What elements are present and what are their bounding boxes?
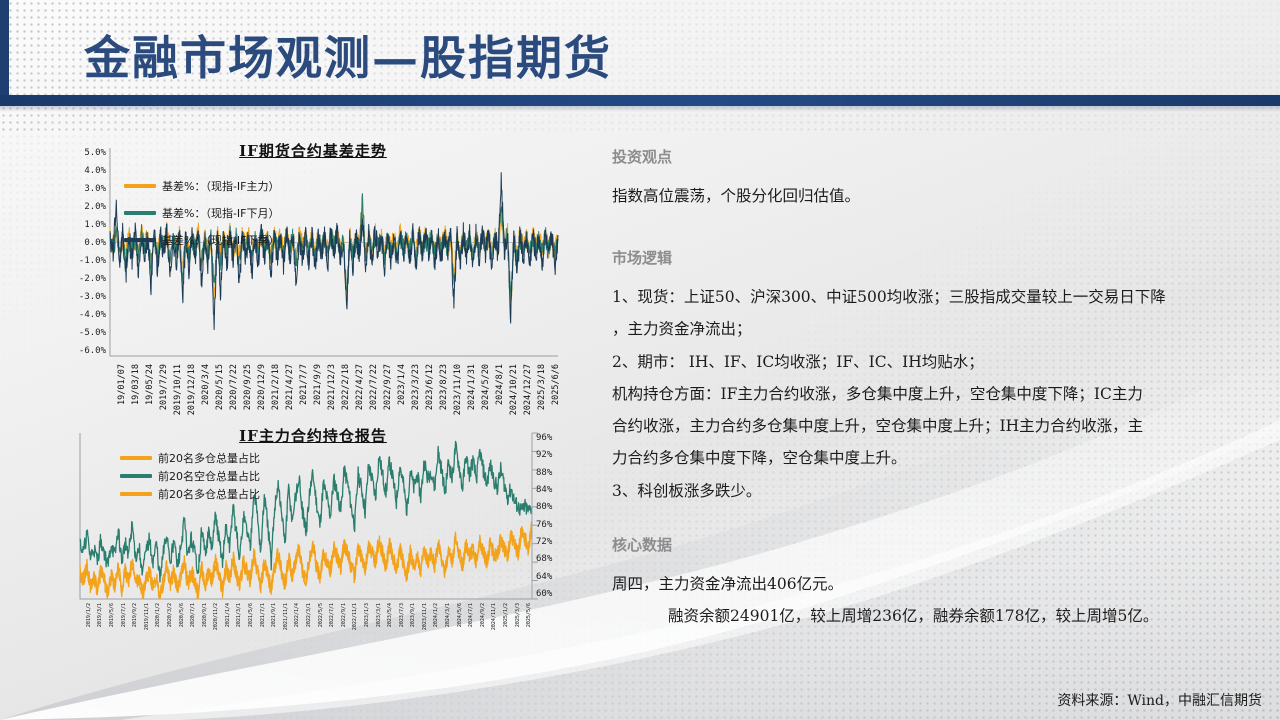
y-axis-tick-label: 3.0%: [84, 184, 106, 194]
x-axis-tick-label: 2024/10/21: [509, 364, 519, 415]
core-data-line-1: 周四，主力资金净流出406亿元。: [612, 569, 1260, 599]
x-axis-tick-label: 2019/9/2: [132, 603, 138, 627]
header-divider-bar: [0, 95, 1280, 106]
legend-item: 基差%：（现指-IF主力）: [124, 178, 280, 194]
y-axis-tick-label: 64%: [536, 572, 552, 582]
x-axis-tick-label: 2022/1/4: [294, 603, 300, 627]
x-axis-tick-label: 2019/12/18: [187, 364, 197, 415]
x-axis-tick-label: 2022/7/1: [329, 603, 335, 627]
x-axis-tick-label: 2019/11/1: [144, 603, 150, 630]
y-axis-tick-label: 80%: [536, 502, 552, 512]
x-axis-tick-label: 2020/7/1: [190, 603, 196, 627]
x-axis-tick-label: 2022/11/1: [352, 603, 358, 630]
x-axis-tick-label: 19/05/24: [145, 364, 155, 405]
y-axis-tick-label: 2.0%: [84, 202, 106, 212]
core-data-heading: 核心数据: [612, 534, 1260, 555]
legend-color-swatch: [120, 456, 152, 460]
x-axis-tick-label: 2024/5/6: [457, 603, 463, 627]
market-logic-item-1: 1、现货：上证50、沪深300、中证500均收涨；三股指成交量较上一交易日下降: [612, 282, 1260, 312]
charts-column: IF期货合约基差走势 5.0%4.0%3.0%2.0%1.0%0.0%-1.0%…: [58, 140, 568, 365]
x-axis-tick-label: 2022/3/1: [306, 603, 312, 627]
core-data-line-2: 融资余额24901亿，较上周增236亿，融券余额178亿，较上周增5亿。: [612, 601, 1260, 631]
x-axis-tick-label: 2020/7/22: [229, 364, 239, 410]
x-axis-tick-label: 2024/1/31: [467, 364, 477, 410]
legend-color-swatch: [124, 238, 156, 242]
header-divider-shadow: [0, 106, 1280, 112]
x-axis-tick-label: 2023/1/3: [364, 603, 370, 627]
chart1-legend: 基差%：（现指-IF主力）基差%：（现指-IF下月）基差%：（现指-IF下季）: [124, 178, 280, 259]
x-axis-tick-label: 2022/4/27: [355, 364, 365, 410]
x-axis-tick-label: 2020/12/9: [257, 364, 267, 410]
x-axis-tick-label: 2021/5/6: [248, 603, 254, 627]
market-logic-item-4: 3、科创板涨多跌少。: [612, 476, 1260, 506]
chart2-x-axis: 2019/1/22019/3/12019/5/62019/7/12019/9/2…: [80, 601, 532, 673]
y-axis-tick-label: 76%: [536, 520, 552, 530]
x-axis-tick-label: 2019/3/1: [97, 603, 103, 627]
y-axis-tick-label: -5.0%: [79, 328, 106, 338]
legend-color-swatch: [124, 184, 156, 188]
legend-label: 基差%：（现指-IF下月）: [162, 205, 280, 221]
legend-item: 基差%：（现指-IF下月）: [124, 205, 280, 221]
x-axis-tick-label: 2022/9/1: [341, 603, 347, 627]
chart1-x-axis: 19/01/0719/03/1819/05/242019/7/292019/10…: [110, 362, 558, 434]
x-axis-tick-label: 2019/1/2: [86, 603, 92, 627]
legend-label: 前20名多仓总量占比: [158, 486, 260, 502]
chart2-legend: 前20名多仓总量占比前20名空仓总量占比前20名多仓总量占比: [120, 450, 260, 504]
x-axis-tick-label: 2023/8/23: [439, 364, 449, 410]
market-logic-item-3a: 机构持仓方面：IF主力合约收涨，多仓集中度上升，空仓集中度下降；IC主力: [612, 379, 1260, 409]
x-axis-tick-label: 2024/5/20: [481, 364, 491, 410]
x-axis-tick-label: 2023/11/1: [422, 603, 428, 630]
x-axis-tick-label: 2021/9/1: [271, 603, 277, 627]
x-axis-tick-label: 2020/3/4: [201, 364, 211, 405]
x-axis-tick-label: 2022/9/27: [383, 364, 393, 410]
x-axis-tick-label: 2024/1/2: [433, 603, 439, 627]
chart-if-basis-trend: IF期货合约基差走势 5.0%4.0%3.0%2.0%1.0%0.0%-1.0%…: [58, 140, 568, 365]
x-axis-tick-label: 2025/3/18: [537, 364, 547, 410]
x-axis-tick-label: 2025/1/2: [503, 603, 509, 627]
y-axis-tick-label: 84%: [536, 485, 552, 495]
x-axis-tick-label: 2020/9/25: [243, 364, 253, 410]
y-axis-tick-label: -6.0%: [79, 346, 106, 356]
x-axis-tick-label: 2021/9/9: [313, 364, 323, 405]
x-axis-tick-label: 2025/6/6: [551, 364, 561, 405]
chart-if-position-report: IF主力合约持仓报告 96%92%88%84%80%76%72%68%64%60…: [58, 425, 568, 625]
x-axis-tick-label: 2025/5/6: [526, 603, 532, 627]
legend-color-swatch: [120, 474, 152, 478]
market-logic-item-3c: 力合约多仓集中度下降，空仓集中度上升。: [612, 443, 1260, 473]
x-axis-tick-label: 2023/7/3: [399, 603, 405, 627]
market-logic-item-2: 2、期市： IH、IF、IC均收涨；IF、IC、IH均贴水；: [612, 347, 1260, 377]
x-axis-tick-label: 2021/7/7: [299, 364, 309, 405]
y-axis-tick-label: 68%: [536, 554, 552, 564]
x-axis-tick-label: 2019/5/6: [109, 603, 115, 627]
y-axis-tick-label: 4.0%: [84, 166, 106, 176]
y-axis-tick-label: 60%: [536, 589, 552, 599]
x-axis-tick-label: 2023/11/10: [453, 364, 463, 415]
x-axis-tick-label: 2020/1/2: [155, 603, 161, 627]
page-title: 金融市场观测—股指期货: [84, 30, 612, 88]
market-logic-heading: 市场逻辑: [612, 247, 1260, 268]
x-axis-tick-label: 2021/2/18: [271, 364, 281, 410]
chart2-y-axis: 96%92%88%84%80%76%72%68%64%60%: [536, 433, 570, 599]
legend-label: 前20名多仓总量占比: [158, 450, 260, 466]
x-axis-tick-label: 2023/9/1: [410, 603, 416, 627]
x-axis-tick-label: 2019/7/1: [121, 603, 127, 627]
investment-view-heading: 投资观点: [612, 146, 1260, 167]
x-axis-tick-label: 19/03/18: [131, 364, 141, 405]
x-axis-tick-label: 2021/4/27: [285, 364, 295, 410]
y-axis-tick-label: -4.0%: [79, 310, 106, 320]
x-axis-tick-label: 2023/6/12: [425, 364, 435, 410]
y-axis-tick-label: 92%: [536, 450, 552, 460]
legend-color-swatch: [124, 211, 156, 215]
x-axis-tick-label: 2022/2/18: [341, 364, 351, 410]
x-axis-tick-label: 2024/7/1: [468, 603, 474, 627]
x-axis-tick-label: 2019/7/29: [159, 364, 169, 410]
slide-canvas: 金融市场观测—股指期货 IF期货合约基差走势 5.0%4.0%3.0%2.0%1…: [0, 0, 1280, 720]
legend-label: 基差%：（现指-IF下季）: [162, 232, 280, 248]
legend-item: 前20名空仓总量占比: [120, 468, 260, 484]
x-axis-tick-label: 2020/5/6: [179, 603, 185, 627]
market-logic-item-3b: 合约收涨，主力合约多仓集中度上升，空仓集中度上升；IH主力合约收涨，主: [612, 411, 1260, 441]
header-left-accent-bar: [0, 0, 9, 104]
legend-item: 前20名多仓总量占比: [120, 486, 260, 502]
x-axis-tick-label: 2021/7/1: [260, 603, 266, 627]
x-axis-tick-label: 2022/7/22: [369, 364, 379, 410]
legend-label: 基差%：（现指-IF主力）: [162, 178, 280, 194]
commentary-column: 投资观点 指数高位震荡，个股分化回归估值。 市场逻辑 1、现货：上证50、沪深3…: [612, 146, 1260, 633]
x-axis-tick-label: 2022/5/5: [318, 603, 324, 627]
y-axis-tick-label: 72%: [536, 537, 552, 547]
chart1-y-axis: 5.0%4.0%3.0%2.0%1.0%0.0%-1.0%-2.0%-3.0%-…: [58, 148, 106, 356]
x-axis-tick-label: 2024/3/1: [445, 603, 451, 627]
y-axis-tick-label: 96%: [536, 433, 552, 443]
x-axis-tick-label: 2023/3/1: [376, 603, 382, 627]
x-axis-tick-label: 2024/9/2: [480, 603, 486, 627]
x-axis-tick-label: 2023/1/4: [397, 364, 407, 405]
x-axis-tick-label: 2024/11/1: [491, 603, 497, 630]
x-axis-tick-label: 2020/5/15: [215, 364, 225, 410]
x-axis-tick-label: 2024/8/1: [495, 364, 505, 405]
y-axis-tick-label: -2.0%: [79, 274, 106, 284]
x-axis-tick-label: 2020/9/1: [202, 603, 208, 627]
legend-item: 基差%：（现指-IF下季）: [124, 232, 280, 248]
x-axis-tick-label: 2021/12/3: [327, 364, 337, 410]
market-logic-item-1-cont: ，主力资金净流出；: [612, 314, 1260, 344]
x-axis-tick-label: 2021/1/4: [225, 603, 231, 627]
y-axis-tick-label: 0.0%: [84, 238, 106, 248]
x-axis-tick-label: 2024/12/27: [523, 364, 533, 415]
y-axis-tick-label: -1.0%: [79, 256, 106, 266]
x-axis-tick-label: 2021/3/1: [236, 603, 242, 627]
x-axis-tick-label: 2019/10/11: [173, 364, 183, 415]
source-attribution: 资料来源：Wind，中融汇信期货: [1057, 690, 1262, 710]
x-axis-tick-label: 2020/11/2: [213, 603, 219, 630]
x-axis-tick-label: 2023/5/4: [387, 603, 393, 627]
x-axis-tick-label: 19/01/07: [117, 364, 127, 405]
x-axis-tick-label: 2021/11/1: [283, 603, 289, 630]
y-axis-tick-label: 1.0%: [84, 220, 106, 230]
y-axis-tick-label: 5.0%: [84, 148, 106, 158]
investment-view-text: 指数高位震荡，个股分化回归估值。: [612, 181, 1260, 211]
legend-item: 前20名多仓总量占比: [120, 450, 260, 466]
x-axis-tick-label: 2025/3/3: [515, 603, 521, 627]
x-axis-tick-label: 2020/3/2: [167, 603, 173, 627]
x-axis-tick-label: 2023/3/23: [411, 364, 421, 410]
y-axis-tick-label: -3.0%: [79, 292, 106, 302]
legend-label: 前20名空仓总量占比: [158, 468, 260, 484]
y-axis-tick-label: 88%: [536, 468, 552, 478]
legend-color-swatch: [120, 492, 152, 496]
